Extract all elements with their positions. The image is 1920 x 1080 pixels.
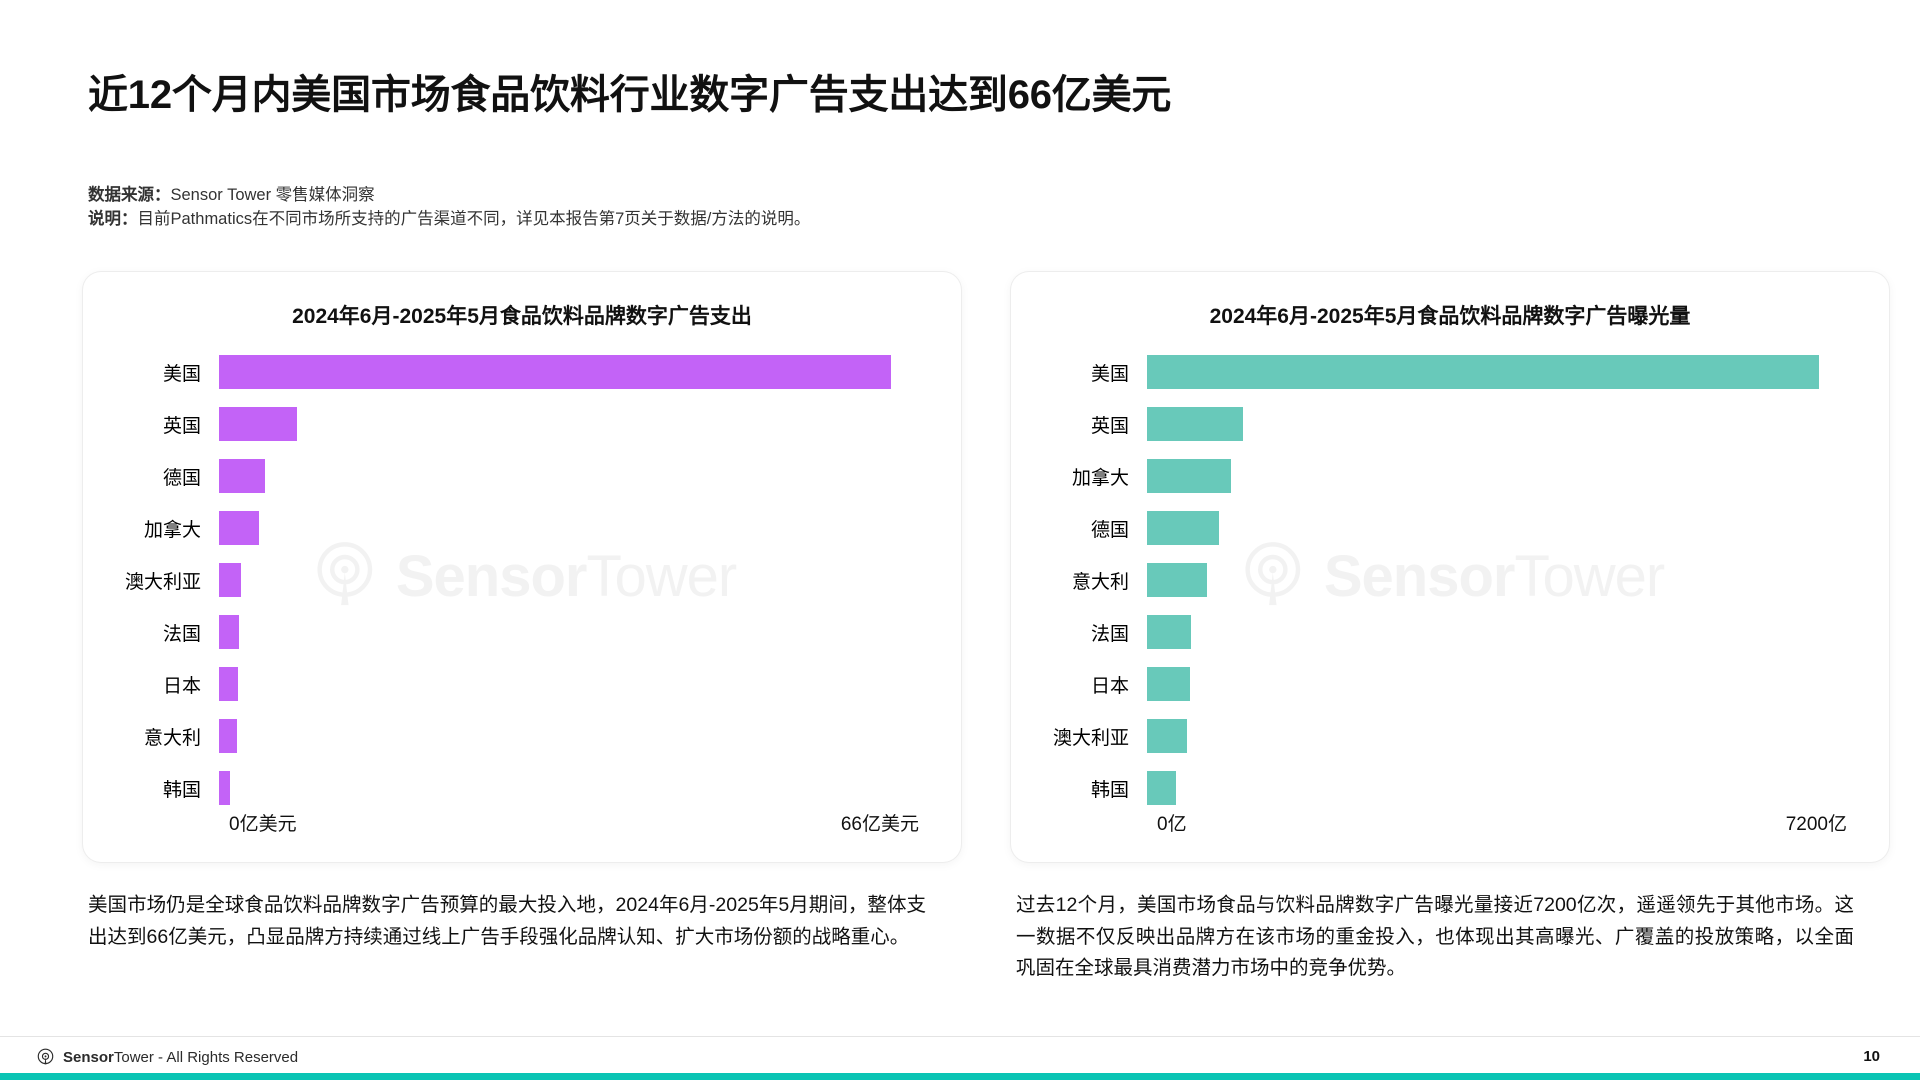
page-title: 近12个月内美国市场食品饮料行业数字广告支出达到66亿美元 <box>88 62 1171 120</box>
axis-max-label-impressions: 7200亿 <box>1786 809 1847 836</box>
footer-divider <box>0 1036 1920 1037</box>
source-line: 数据来源：Sensor Tower 零售媒体洞察 <box>88 184 810 208</box>
bar-track <box>219 606 961 658</box>
footer-brand-text: SensorTower - All Rights Reserved <box>63 1049 298 1066</box>
slide-root: 近12个月内美国市场食品饮料行业数字广告支出达到66亿美元 数据来源：Senso… <box>0 0 1920 1080</box>
bar <box>219 667 238 701</box>
bar-category-label: 澳大利亚 <box>83 567 219 594</box>
bar <box>219 511 259 545</box>
bar <box>219 563 241 597</box>
bar-category-label: 德国 <box>83 463 219 490</box>
chart-title-impressions: 2024年6月-2025年5月食品饮料品牌数字广告曝光量 <box>1011 300 1889 330</box>
footer-brand: SensorTower - All Rights Reserved <box>36 1048 298 1067</box>
bar-category-label: 法国 <box>1011 619 1147 646</box>
bar <box>1147 719 1187 753</box>
source-value: Sensor Tower 零售媒体洞察 <box>171 186 375 204</box>
bar-row: 法国 <box>1011 606 1889 658</box>
bar-category-label: 加拿大 <box>1011 463 1147 490</box>
bar-row: 英国 <box>83 398 961 450</box>
bar <box>1147 615 1191 649</box>
bar-category-label: 澳大利亚 <box>1011 723 1147 750</box>
bar-row: 美国 <box>83 346 961 398</box>
bar-track <box>1147 346 1889 398</box>
axis-min-label-spend: 0亿美元 <box>219 809 297 836</box>
axis-min-label-impressions: 0亿 <box>1147 809 1187 836</box>
bar <box>1147 511 1219 545</box>
bar <box>1147 459 1231 493</box>
bar-category-label: 美国 <box>83 359 219 386</box>
bar-category-label: 法国 <box>83 619 219 646</box>
bar <box>219 407 297 441</box>
bar-track <box>1147 710 1889 762</box>
source-note-block: 数据来源：Sensor Tower 零售媒体洞察 说明：目前Pathmatics… <box>88 184 810 232</box>
source-label: 数据来源： <box>88 186 171 204</box>
bar-row: 意大利 <box>83 710 961 762</box>
bar <box>219 355 891 389</box>
bar-row: 德国 <box>83 450 961 502</box>
note-line: 说明：目前Pathmatics在不同市场所支持的广告渠道不同，详见本报告第7页关… <box>88 208 810 232</box>
bar-row: 法国 <box>83 606 961 658</box>
bar-category-label: 意大利 <box>83 723 219 750</box>
bar-row: 韩国 <box>1011 762 1889 814</box>
bar-track <box>219 762 961 814</box>
bar-track <box>1147 554 1889 606</box>
bar-track <box>1147 658 1889 710</box>
bar-row: 澳大利亚 <box>83 554 961 606</box>
bar-category-label: 韩国 <box>1011 775 1147 802</box>
bar-category-label: 日本 <box>1011 671 1147 698</box>
bar-category-label: 韩国 <box>83 775 219 802</box>
bar-track <box>1147 450 1889 502</box>
bar <box>1147 771 1176 805</box>
bar-category-label: 日本 <box>83 671 219 698</box>
chart-card-spend: 2024年6月-2025年5月食品饮料品牌数字广告支出 SensorTower … <box>83 272 961 862</box>
chart-card-impressions: 2024年6月-2025年5月食品饮料品牌数字广告曝光量 SensorTower… <box>1011 272 1889 862</box>
note-value: 目前Pathmatics在不同市场所支持的广告渠道不同，详见本报告第7页关于数据… <box>138 210 811 228</box>
bar-category-label: 美国 <box>1011 359 1147 386</box>
description-left: 美国市场仍是全球食品饮料品牌数字广告预算的最大投入地，2024年6月-2025年… <box>88 890 926 953</box>
bar <box>219 459 265 493</box>
bar <box>1147 563 1207 597</box>
bar-track <box>1147 398 1889 450</box>
sensor-tower-logo-icon <box>36 1048 55 1067</box>
bar-track <box>219 346 961 398</box>
bar-track <box>219 502 961 554</box>
bar-track <box>219 554 961 606</box>
bar <box>219 719 237 753</box>
bar-track <box>1147 762 1889 814</box>
bar-category-label: 德国 <box>1011 515 1147 542</box>
bar-row: 美国 <box>1011 346 1889 398</box>
bar-row: 加拿大 <box>1011 450 1889 502</box>
bar <box>219 615 239 649</box>
bar-track <box>1147 502 1889 554</box>
bar-row: 韩国 <box>83 762 961 814</box>
axis-max-label-spend: 66亿美元 <box>841 809 919 836</box>
bar-plot-impressions: 美国英国加拿大德国意大利法国日本澳大利亚韩国 <box>1011 346 1889 788</box>
bar-row: 加拿大 <box>83 502 961 554</box>
bar-row: 德国 <box>1011 502 1889 554</box>
bar <box>1147 355 1819 389</box>
page-number: 10 <box>1863 1048 1880 1065</box>
bar-row: 澳大利亚 <box>1011 710 1889 762</box>
axis-labels-spend: 0亿美元 66亿美元 <box>219 809 919 836</box>
axis-labels-impressions: 0亿 7200亿 <box>1147 809 1847 836</box>
bar-category-label: 加拿大 <box>83 515 219 542</box>
bar-row: 日本 <box>1011 658 1889 710</box>
footer-accent-bar <box>0 1073 1920 1080</box>
bar-track <box>219 450 961 502</box>
bar-row: 日本 <box>83 658 961 710</box>
bar-track <box>219 658 961 710</box>
chart-title-spend: 2024年6月-2025年5月食品饮料品牌数字广告支出 <box>83 300 961 330</box>
bar <box>1147 407 1243 441</box>
bar-category-label: 英国 <box>83 411 219 438</box>
note-label: 说明： <box>88 210 138 228</box>
bar-row: 意大利 <box>1011 554 1889 606</box>
bar-track <box>219 710 961 762</box>
bar-plot-spend: 美国英国德国加拿大澳大利亚法国日本意大利韩国 <box>83 346 961 788</box>
bar <box>219 771 230 805</box>
bar-category-label: 意大利 <box>1011 567 1147 594</box>
bar <box>1147 667 1190 701</box>
bar-row: 英国 <box>1011 398 1889 450</box>
bar-track <box>1147 606 1889 658</box>
bar-category-label: 英国 <box>1011 411 1147 438</box>
footer: SensorTower - All Rights Reserved 10 <box>0 1036 1920 1080</box>
bar-track <box>219 398 961 450</box>
description-right: 过去12个月，美国市场食品与饮料品牌数字广告曝光量接近7200亿次，遥遥领先于其… <box>1016 890 1854 985</box>
